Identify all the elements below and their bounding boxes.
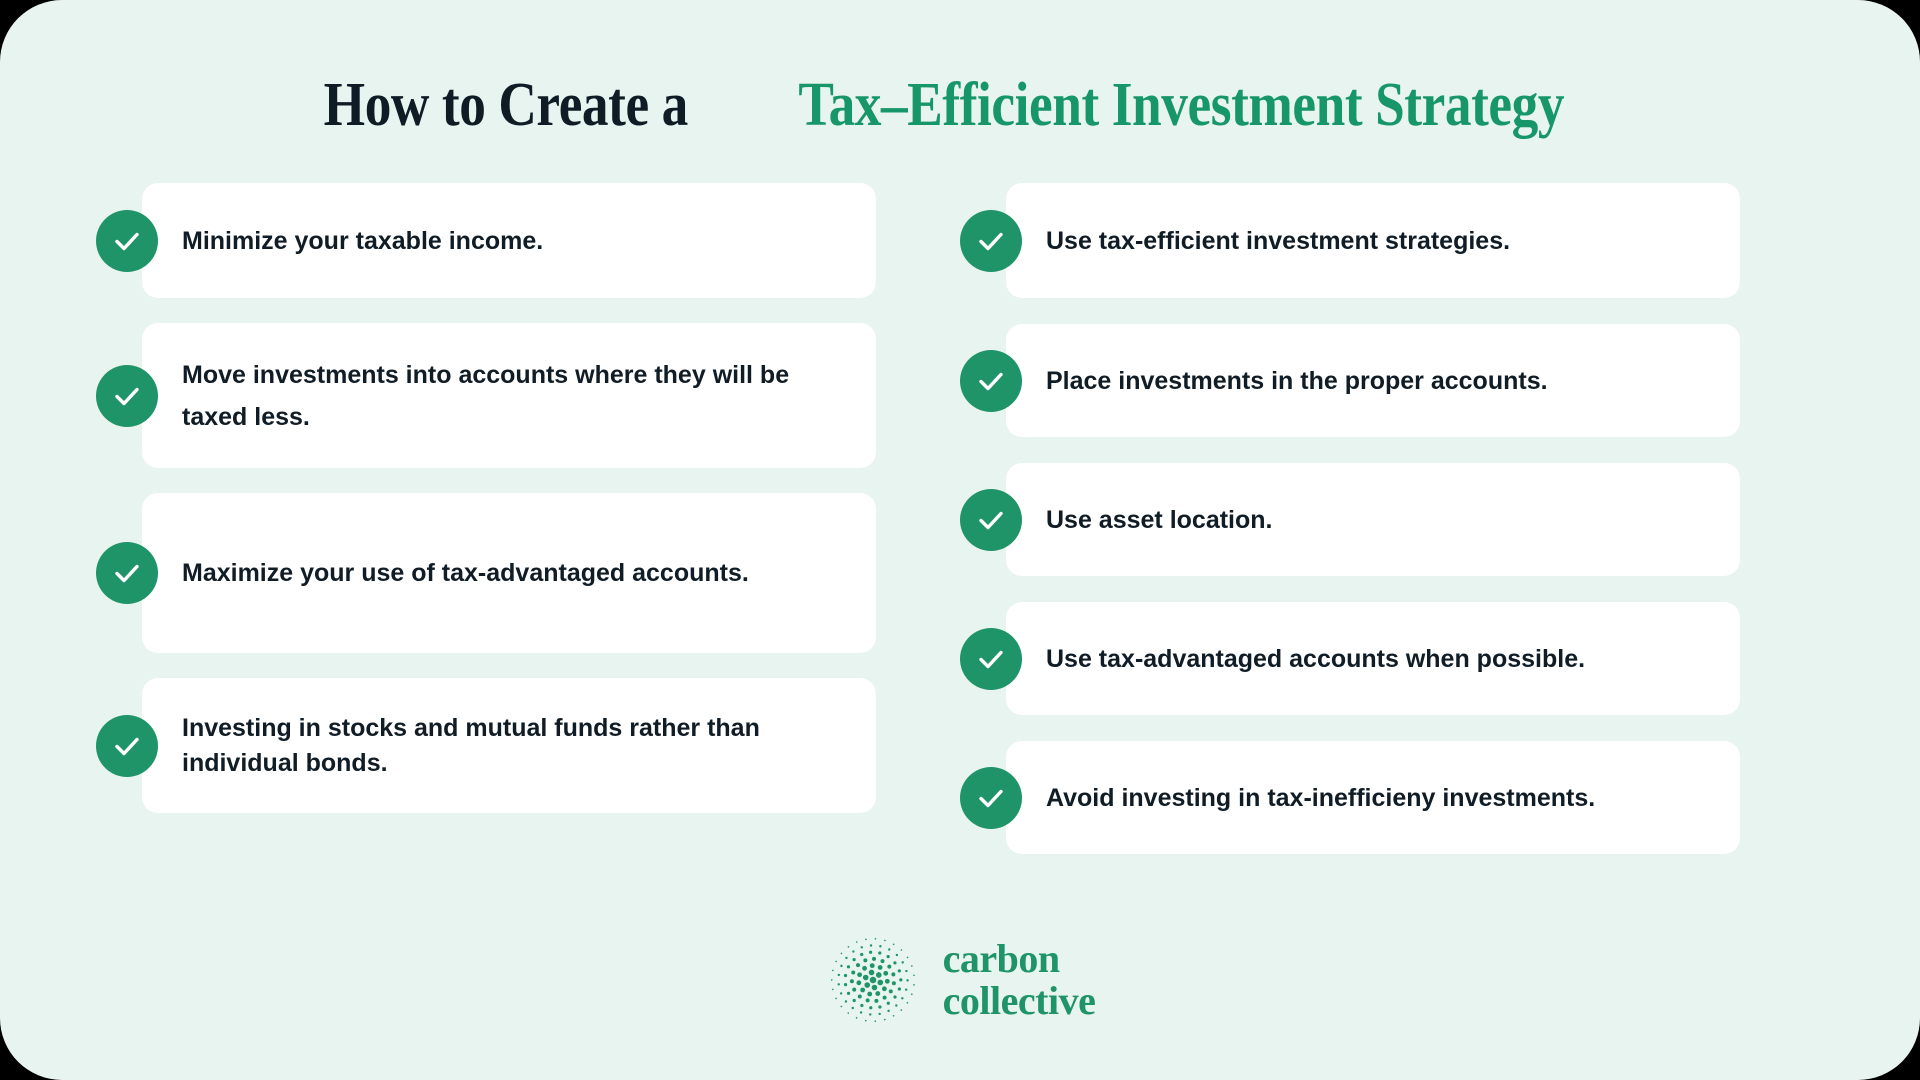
check-icon: [96, 365, 158, 427]
check-icon: [960, 350, 1022, 412]
list-item: Use tax-advantaged accounts when possibl…: [960, 602, 1740, 715]
checklist-columns: Minimize your taxable income. Move inves…: [96, 183, 1824, 880]
check-icon: [96, 715, 158, 777]
list-item: Use tax-efficient investment strategies.: [960, 183, 1740, 298]
list-item: Maximize your use of tax-advantaged acco…: [96, 493, 876, 653]
list-item-label: Use asset location.: [1046, 499, 1300, 541]
brand-wordmark-line2: collective: [943, 980, 1096, 1022]
check-icon: [96, 542, 158, 604]
list-item: Avoid investing in tax-inefficieny inves…: [960, 741, 1740, 854]
list-item-label: Minimize your taxable income.: [182, 220, 571, 262]
check-icon: [960, 489, 1022, 551]
infographic-canvas: How to Create aTax–Efficient Investment …: [0, 0, 1920, 1080]
list-item-label: Use tax-advantaged accounts when possibl…: [1046, 638, 1613, 680]
checklist-column-left: Minimize your taxable income. Move inves…: [96, 183, 876, 880]
page-title-primary: How to Create a: [324, 74, 688, 136]
list-item: Place investments in the proper accounts…: [960, 324, 1740, 437]
check-icon: [960, 628, 1022, 690]
list-item-label: Use tax-efficient investment strategies.: [1046, 220, 1538, 262]
carbon-collective-dots-icon: [825, 932, 921, 1028]
page-title-highlight: Tax–Efficient Investment Strategy: [798, 74, 1564, 136]
list-item: Investing in stocks and mutual funds rat…: [96, 678, 876, 813]
list-item-label: Investing in stocks and mutual funds rat…: [182, 711, 876, 780]
check-icon: [96, 210, 158, 272]
list-item: Minimize your taxable income.: [96, 183, 876, 298]
list-item-label: Avoid investing in tax-inefficieny inves…: [1046, 777, 1623, 819]
brand-logo: carbon collective: [0, 932, 1920, 1028]
check-icon: [960, 210, 1022, 272]
list-item: Use asset location.: [960, 463, 1740, 576]
brand-wordmark: carbon collective: [943, 938, 1096, 1023]
page-title: How to Create aTax–Efficient Investment …: [0, 74, 1920, 136]
list-item-label: Maximize your use of tax-advantaged acco…: [182, 552, 777, 594]
check-icon: [960, 767, 1022, 829]
list-item-label: Move investments into accounts where the…: [182, 354, 876, 438]
checklist-column-right: Use tax-efficient investment strategies.…: [960, 183, 1740, 880]
list-item-label: Place investments in the proper accounts…: [1046, 360, 1576, 402]
list-item: Move investments into accounts where the…: [96, 323, 876, 468]
brand-wordmark-line1: carbon: [943, 938, 1096, 980]
